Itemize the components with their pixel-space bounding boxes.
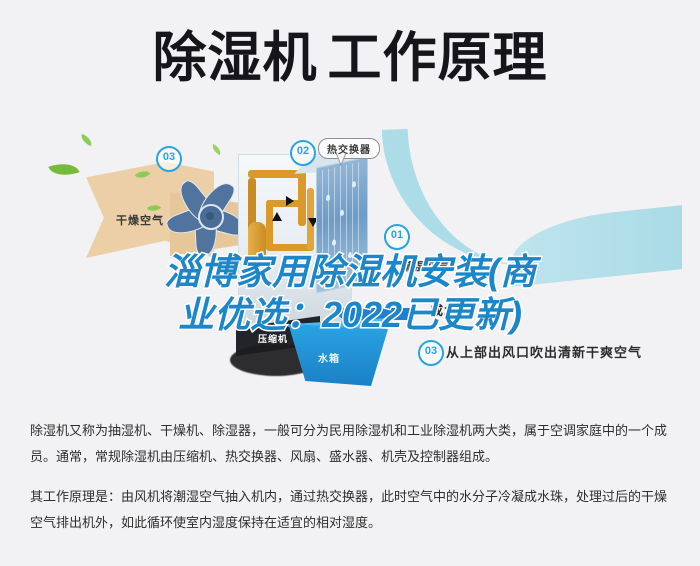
overlay-watermark-title: 淄博家用除湿机安装(商 业优选：2022已更新) xyxy=(0,250,700,336)
dry-air-label: 干燥空气 xyxy=(116,212,164,228)
heat-exchanger-callout: 热交换器 xyxy=(318,138,380,159)
step-badge-03b: 03 xyxy=(418,340,444,366)
callout-pointer-icon xyxy=(336,154,346,166)
leaf-icon xyxy=(48,158,79,181)
step-badge-01: 01 xyxy=(384,224,410,250)
step-badge-02: 02 xyxy=(290,140,316,166)
step3-description: 从上部出风口吹出清新干爽空气 xyxy=(446,342,642,361)
flow-arrow-icon xyxy=(286,196,294,206)
leaf-icon xyxy=(210,144,223,155)
leaf-icon xyxy=(79,134,94,146)
page-title-part1: 除湿机 xyxy=(153,28,318,88)
page-root: 除湿机工作原理 xyxy=(0,0,700,566)
copy-paragraph-1: 除湿机又称为抽湿机、干燥机、除湿器，一般可分为民用除湿机和工业除湿机两大类，属于… xyxy=(30,418,676,470)
body-copy: 除湿机又称为抽湿机、干燥机、除湿器，一般可分为民用除湿机和工业除湿机两大类，属于… xyxy=(30,418,676,550)
step-badge-03: 03 xyxy=(156,146,182,172)
overlay-line-2: 业优选：2022已更新) xyxy=(0,293,700,336)
page-title: 除湿机工作原理 xyxy=(0,28,700,88)
flow-arrow-icon xyxy=(272,212,282,221)
water-tank-label: 水箱 xyxy=(318,350,340,365)
copy-paragraph-2: 其工作原理是：由风机将潮湿空气抽入机内，通过热交换器，此时空气中的水分子冷凝成水… xyxy=(30,484,676,536)
page-title-part2: 工作原理 xyxy=(328,28,548,88)
overlay-line-1: 淄博家用除湿机安装(商 xyxy=(0,250,700,293)
